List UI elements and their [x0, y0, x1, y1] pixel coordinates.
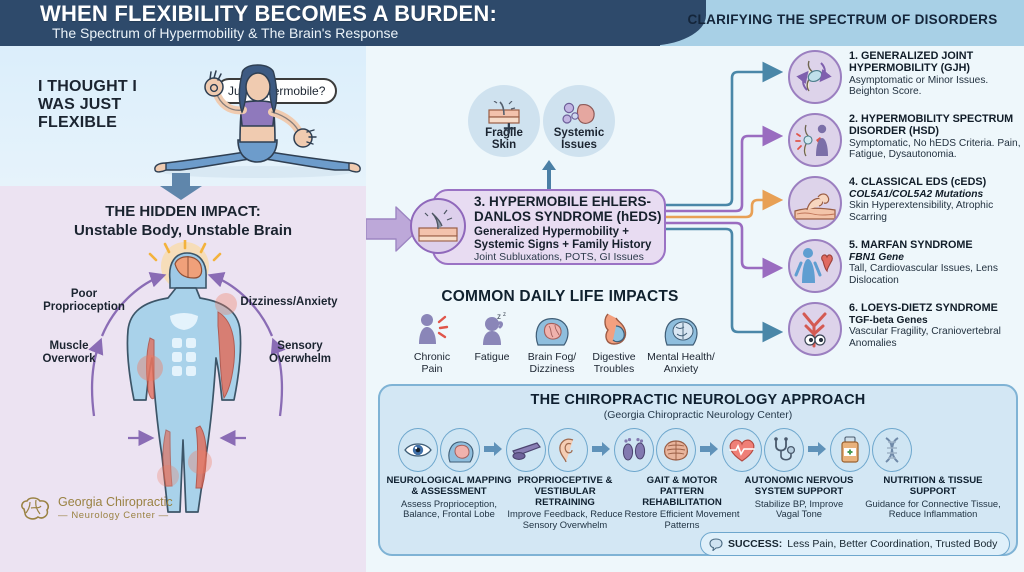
label-sensory-overwhelm: Sensory Overwhelm — [252, 340, 348, 366]
step-1: NEUROLOGICAL MAPPING & ASSESSMENT Assess… — [382, 476, 516, 520]
step-5: NUTRITION & TISSUE SUPPORT Guidance for … — [860, 476, 1006, 520]
hidden-impact-heading: THE HIDDEN IMPACT: Unstable Body, Unstab… — [0, 202, 366, 240]
heds-title: 3. HYPERMOBILE EHLERS-DANLOS SYNDROME (h… — [474, 195, 664, 224]
quote-text: I THOUGHT I WAS JUST FLEXIBLE — [38, 78, 168, 132]
spectrum-item-hsd[interactable]: 2. HYPERMOBILITY SPECTRUM DISORDER (HSD)… — [788, 113, 1024, 167]
supplement-bottle-icon — [830, 428, 870, 472]
hidden-impact-title: THE HIDDEN IMPACT: — [105, 203, 261, 220]
head-brain-anxiety-icon — [659, 312, 703, 346]
impact-digestive: DigestiveTroubles — [582, 312, 646, 375]
stomach-icon — [594, 312, 634, 346]
logo-sub: — Neurology Center — — [58, 509, 173, 522]
impact-label: Brain Fog/Dizziness — [520, 351, 584, 375]
spectrum-title: 2. HYPERMOBILITY SPECTRUM DISORDER (HSD) — [849, 114, 1024, 138]
step-title: AUTONOMIC NERVOUS SYSTEM SUPPORT — [744, 476, 854, 498]
step-arrow-2-icon — [592, 442, 610, 456]
speech-bubble-icon — [709, 538, 723, 551]
ear-icon — [548, 428, 588, 472]
spectrum-desc: Skin Hyperextensibility, Atrophic Scarri… — [849, 200, 1024, 223]
anatomy-figure-illustration — [50, 240, 320, 525]
impact-label: DigestiveTroubles — [582, 351, 646, 375]
pill-systemic-issues: Systemic Issues — [543, 85, 615, 157]
impact-mental-health: Mental Health/Anxiety — [644, 312, 718, 375]
spectrum-desc: Symptomatic, No hEDS Criteria. Pain, Fat… — [849, 138, 1024, 161]
joint-rotation-icon — [788, 50, 842, 104]
step-icons-5 — [830, 428, 912, 472]
head-brain-icon — [440, 428, 480, 472]
stethoscope-icon — [764, 428, 804, 472]
impact-label: Fatigue — [460, 351, 524, 363]
step-3: GAIT & MOTOR PATTERN REHABILITATION Rest… — [624, 476, 740, 531]
up-arrow-icon — [540, 158, 558, 190]
step-desc: Restore Efficient Movement Patterns — [624, 509, 740, 531]
tired-person-icon: z z — [472, 312, 512, 346]
step-desc: Stabilize BP, Improve Vagal Tone — [744, 499, 854, 521]
success-badge: SUCCESS: Less Pain, Better Coordination,… — [700, 532, 1010, 556]
label-muscle-overwork: Muscle Overwork — [24, 340, 114, 366]
spectrum-gene: TGF-beta Genes — [849, 315, 1024, 327]
spectrum-desc: Asymptomatic or Minor Issues. Beighton S… — [849, 75, 1024, 98]
heds-criteria: Generalized Hypermobility + Systemic Sig… — [474, 226, 664, 251]
step-icons-2 — [506, 428, 588, 472]
dna-icon — [872, 428, 912, 472]
step-icons-3 — [614, 428, 696, 472]
step-desc: Improve Feedback, Reduce Sensory Overwhe… — [506, 509, 624, 531]
svg-text:z: z — [503, 312, 506, 318]
down-arrow-icon — [158, 173, 204, 201]
stretchy-skin-icon — [788, 176, 842, 230]
heart-pulse-icon — [722, 428, 762, 472]
impact-label: ChronicPain — [400, 351, 464, 375]
step-icons-4 — [722, 428, 804, 472]
spectrum-item-marfan[interactable]: 5. MARFAN SYNDROME FBN1 Gene Tall, Cardi… — [788, 239, 1024, 293]
spectrum-title: 6. LOEYS-DIETZ SYNDROME — [849, 303, 1024, 315]
spectrum-desc: Tall, Cardiovascular Issues, Lens Disloc… — [849, 263, 1024, 286]
impact-fatigue: z z Fatigue — [460, 312, 524, 363]
success-label: SUCCESS: — [728, 538, 782, 550]
step-icons-1 — [398, 428, 480, 472]
person-back-pain-icon — [412, 312, 452, 346]
spectrum-title: 4. CLASSICAL EDS (cEDS) — [849, 177, 1024, 189]
skin-pinch-icon — [416, 208, 460, 244]
spectrum-item-loeys-dietz[interactable]: 6. LOEYS-DIETZ SYNDROME TGF-beta Genes V… — [788, 302, 1024, 356]
spectrum-gene: FBN1 Gene — [849, 252, 1024, 264]
step-title: NEUROLOGICAL MAPPING & ASSESSMENT — [382, 476, 516, 498]
step-title: NUTRITION & TISSUE SUPPORT — [860, 476, 1006, 498]
logo-name: Georgia Chiropractic — [58, 495, 173, 509]
spectrum-list: 1. GENERALIZED JOINT HYPERMOBILITY (GJH)… — [788, 50, 1024, 365]
spectrum-gene: COL5A1/COL5A2 Mutations — [849, 189, 1024, 201]
step-desc: Assess Proprioception, Balance, Frontal … — [382, 499, 516, 521]
step-title: GAIT & MOTOR PATTERN REHABILITATION — [624, 476, 740, 508]
plus-sign: + — [503, 118, 515, 141]
painful-knee-person-icon — [788, 113, 842, 167]
label-dizziness-anxiety: Dizziness/Anxiety — [230, 296, 348, 309]
step-title: PROPRIOCEPTIVE & VESTIBULAR RETRAINING — [506, 476, 624, 508]
impacts-title: COMMON DAILY LIFE IMPACTS — [410, 288, 710, 306]
spectrum-item-gjh[interactable]: 1. GENERALIZED JOINT HYPERMOBILITY (GJH)… — [788, 50, 1024, 104]
approach-title: THE CHIROPRACTIC NEUROLOGY APPROACH — [380, 392, 1016, 408]
artery-eyes-icon — [788, 302, 842, 356]
organs-cells-icon — [561, 101, 597, 127]
spectrum-title: 5. MARFAN SYNDROME — [849, 240, 1024, 252]
step-2: PROPRIOCEPTIVE & VESTIBULAR RETRAINING I… — [506, 476, 624, 531]
spectrum-desc: Vascular Fragility, Craniovertebral Anom… — [849, 326, 1024, 349]
heds-card: 3. HYPERMOBILE EHLERS-DANLOS SYNDROME (h… — [432, 189, 666, 265]
impact-chronic-pain: ChronicPain — [400, 312, 464, 375]
impact-brain-fog: Brain Fog/Dizziness — [520, 312, 584, 375]
heds-icon-circle — [410, 198, 466, 254]
approach-subtitle: (Georgia Chiropractic Neurology Center) — [380, 409, 1016, 421]
step-desc: Guidance for Connective Tissue, Reduce I… — [860, 499, 1006, 521]
pill-systemic-issues-label: Systemic Issues — [554, 127, 605, 151]
brain-logo-icon — [18, 496, 52, 522]
impact-label: Mental Health/Anxiety — [644, 351, 718, 375]
infographic-root: WHEN FLEXIBILITY BECOMES A BURDEN: The S… — [0, 0, 1024, 572]
heds-detail: Joint Subluxations, POTS, GI Issues — [474, 251, 664, 263]
step-arrow-3-icon — [700, 442, 718, 456]
brand-logo: Georgia Chiropractic — Neurology Center … — [18, 496, 173, 522]
page-subtitle: The Spectrum of Hypermobility & The Brai… — [52, 26, 398, 41]
svg-text:z: z — [497, 312, 501, 321]
yoga-woman-illustration — [150, 60, 365, 180]
page-title: WHEN FLEXIBILITY BECOMES A BURDEN: — [40, 3, 497, 25]
cerebellum-icon — [656, 428, 696, 472]
step-arrow-4-icon — [808, 442, 826, 456]
head-brain-icon — [530, 312, 574, 346]
header-right-title: CLARIFYING THE SPECTRUM OF DISORDERS — [665, 12, 1020, 27]
spectrum-title: 1. GENERALIZED JOINT HYPERMOBILITY (GJH) — [849, 51, 1024, 75]
success-text: Less Pain, Better Coordination, Trusted … — [787, 538, 997, 550]
balance-board-icon — [506, 428, 546, 472]
step-4: AUTONOMIC NERVOUS SYSTEM SUPPORT Stabili… — [744, 476, 854, 520]
tall-person-heart-icon — [788, 239, 842, 293]
label-poor-proprioception: Poor Proprioception — [30, 288, 138, 314]
footprints-icon — [614, 428, 654, 472]
eye-icon — [398, 428, 438, 472]
hidden-impact-sub: Unstable Body, Unstable Brain — [74, 222, 292, 239]
step-arrow-1-icon — [484, 442, 502, 456]
spectrum-item-ceds[interactable]: 4. CLASSICAL EDS (cEDS) COL5A1/COL5A2 Mu… — [788, 176, 1024, 230]
